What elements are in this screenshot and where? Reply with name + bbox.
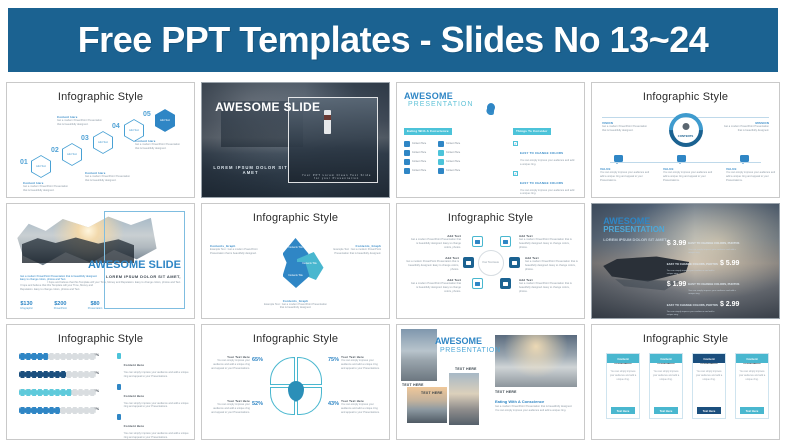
value-block-1: VALUE You can simply impress your audien… <box>600 167 650 182</box>
icon-box-4[interactable] <box>500 278 511 289</box>
slide-thumbnail-9[interactable]: Infographic Style Content Here80% Conten… <box>6 324 195 440</box>
vision-body: Get a modern PowerPoint Presentation tha… <box>602 125 648 133</box>
icon-list-item[interactable]: Content Here <box>404 141 434 147</box>
megaphone-icon <box>117 414 121 420</box>
train-icon <box>438 159 444 165</box>
callout-right: Contents_Graph Example Text : Get a mode… <box>331 244 381 256</box>
checklist-item[interactable]: ✓EASY TO CHANGE COLORSYou can simply imp… <box>513 141 575 167</box>
text-label-1: TEXT HERE <box>402 383 424 387</box>
callout-body: Example Text : Get a modern PowerPoint P… <box>264 303 328 311</box>
icon-box-2[interactable] <box>500 236 511 247</box>
slide-caption: Your PPT Lorem Clean Text Slide for your… <box>299 174 374 180</box>
callout-body: Get a modern PowerPoint Presentation tha… <box>135 143 181 151</box>
card-desc: You can simply impress your audience and… <box>609 370 637 381</box>
slide-thumbnail-5[interactable]: AWESOME SLIDE LOREM IPSUM DOLOR SIT AMET… <box>6 203 195 319</box>
text-label-4: TEXT HERE <box>495 390 517 394</box>
pricing-card-3[interactable]: Content Simple PowerPoint Presentation Y… <box>692 353 726 419</box>
card-header: Content <box>693 354 725 363</box>
item-label-2: Add Text Get a modern PowerPoint Present… <box>403 256 459 271</box>
silhouette-head <box>487 103 495 112</box>
mission-block: MISSION Get a modern PowerPoint Presenta… <box>723 121 769 133</box>
slide-title: Infographic Style <box>592 91 779 103</box>
puzzle-track <box>19 353 95 360</box>
slide-thumbnail-2[interactable]: AWESOME SLIDE LOREM IPSUM DOLOR SIT AMET… <box>201 82 390 198</box>
page-banner: Free PPT Templates - Slides No 13~24 <box>8 8 778 72</box>
feature-body: You can simply impress your audience and… <box>124 402 189 410</box>
segment-label-1: Contents Title <box>288 246 304 249</box>
hexagon-chain: 01 Add Text 02 Add Text 03 Add Text 04 A… <box>7 109 194 181</box>
image-icon <box>503 240 508 244</box>
slide-title: Infographic Style <box>7 91 194 103</box>
feature-item[interactable]: Content HereYou can simply impress your … <box>117 384 189 410</box>
bottom-connector-line <box>610 162 761 163</box>
item-body: Get a modern PowerPoint Presentation tha… <box>409 282 461 293</box>
label-body: You can simply impress your audience and… <box>341 403 381 414</box>
checklist-body: You can simply impress your audience and… <box>520 159 575 167</box>
puzzle-bar-3: Content Here90% <box>19 389 99 393</box>
icon-box-1[interactable] <box>472 236 483 247</box>
callout-body: Get a modern PowerPoint Presentation tha… <box>57 119 103 127</box>
card-header: Content <box>736 354 768 363</box>
callout-left: Contents_Graph Example Text : Get a mode… <box>210 244 260 256</box>
mail-icon <box>404 141 410 147</box>
card-desc: You can simply impress your audience and… <box>738 370 766 381</box>
checklist-item[interactable]: ✓EASY TO CHANGE COLORSYou can simply imp… <box>513 171 575 197</box>
item-body: Get a modern PowerPoint Presentation tha… <box>403 260 459 271</box>
speech-bubble-icon <box>740 155 749 162</box>
hex-callout-1: Content Here Get a modern PowerPoint Pre… <box>23 181 69 193</box>
speech-bubble-icon <box>677 155 686 162</box>
slide-thumbnail-1[interactable]: Infographic Style 01 Add Text 02 Add Tex… <box>6 82 195 198</box>
card-header: Content <box>650 354 682 363</box>
puzzle-icon <box>404 168 410 174</box>
feature-list: Content HereYou can simply impress your … <box>117 353 189 440</box>
hex-number: 03 <box>81 135 89 142</box>
slide-thumbnail-3[interactable]: AWESOME PRESENTATION Eating With A Consc… <box>396 82 585 198</box>
callout-bottom: Contents_Graph Example Text : Get a mode… <box>264 299 328 311</box>
price-label: Presentation <box>88 307 103 310</box>
footer-title: Eating With A Conscience <box>495 399 575 404</box>
value-block-3: VALUE You can simply impress your audien… <box>726 167 776 182</box>
callout-body: Example Text : Get a modern PowerPoint P… <box>331 248 381 256</box>
slide-title: Infographic Style <box>202 212 389 224</box>
price-amount: $ 2.99 <box>720 301 739 308</box>
card-desc: You can simply impress your audience and… <box>652 370 680 381</box>
slide-headline: AWESOME SLIDE <box>215 101 320 114</box>
document-icon <box>475 240 480 244</box>
pin-diagram <box>268 355 324 417</box>
book-icon <box>117 353 121 359</box>
slide-thumbnail-8[interactable]: AWESOME PRESENTATION LOREM IPSUM DOLOR S… <box>591 203 780 319</box>
trefoil-diagram: Contents Title Contents Title Contents T… <box>268 238 324 288</box>
price-row: $130Infographic $200PowerPoint $80Presen… <box>20 301 102 310</box>
label-body: You can simply impress your audience and… <box>210 359 250 370</box>
slide-title: Infographic Style <box>397 212 584 224</box>
center-circle: Your Text Here <box>478 250 504 276</box>
feature-title: Content Here <box>124 394 145 398</box>
slide-thumbnail-4[interactable]: Infographic Style CONTENTS VISION Get a … <box>591 82 780 198</box>
pin-label-2: Your Text Here You can simply impress yo… <box>341 355 381 370</box>
left-panel-header: Eating With A Conscience <box>404 128 452 135</box>
price-item[interactable]: $200PowerPoint <box>54 301 67 310</box>
footer-block: Eating With A Conscience Get a modern Po… <box>495 399 575 413</box>
item-body: Get a modern PowerPoint Presentation tha… <box>519 282 573 293</box>
price-title: EASY TO CHANGE COLORS, PHOTOS <box>688 241 739 245</box>
right-panel: Things To Consider ✓EASY TO CHANGE COLOR… <box>513 119 575 198</box>
puzzle-bar-2: Content Here70% <box>19 371 99 375</box>
hex-number: 01 <box>20 159 28 166</box>
heading-line-1: AWESOME <box>435 337 501 347</box>
feature-item[interactable]: Content HereYou can simply impress your … <box>117 353 189 379</box>
icon-list-item[interactable]: Content Here <box>438 159 468 165</box>
puzzle-bar-4: Content Here60% <box>19 407 99 411</box>
price-body: You can simply impress your audience and… <box>667 311 717 317</box>
gear-icon <box>475 282 480 286</box>
label-body: You can simply impress your audience and… <box>341 359 381 370</box>
feature-title: Content Here <box>124 363 145 367</box>
gear-icon <box>682 123 689 130</box>
checklist-body: You can simply impress your audience and… <box>520 189 575 197</box>
puzzle-bar-1: Content Here80% <box>19 353 99 357</box>
hexagon-label: Add Text <box>98 141 108 144</box>
icon-list-item[interactable]: Content Here <box>438 168 468 174</box>
slide-heading: AWESOME PRESENTATION <box>404 91 473 108</box>
feature-body: You can simply impress your audience and… <box>124 371 189 379</box>
heading-line-2: PRESENTATION <box>408 101 473 108</box>
price-title: EASY TO CHANGE COLORS, PHOTOS <box>667 303 718 307</box>
slide-headline: AWESOME SLIDE <box>47 259 181 271</box>
item-label-5: Add Text Get a modern PowerPoint Present… <box>525 256 579 271</box>
slide-title: Infographic Style <box>592 333 779 345</box>
card-desc: You can simply impress your audience and… <box>695 370 723 381</box>
hex-callout-4: Content Here Get a modern PowerPoint Pre… <box>135 139 181 151</box>
text-label-3: TEXT HERE <box>455 367 477 371</box>
pin-label-1: Your Text Here You can simply impress yo… <box>210 355 250 370</box>
callout-body: Get a modern PowerPoint Presentation tha… <box>85 175 131 183</box>
chart-icon <box>117 384 121 390</box>
check-icon: ✓ <box>513 171 518 176</box>
item-body: Get a modern PowerPoint Presentation tha… <box>409 238 461 249</box>
book-icon <box>438 150 444 156</box>
chat-icon <box>438 141 444 147</box>
slide-title: Infographic Style <box>7 333 194 345</box>
chart-icon <box>438 168 444 174</box>
hexagon-label: Add Text <box>36 165 46 168</box>
feature-item[interactable]: Content HereYou can simply impress your … <box>117 414 189 440</box>
vision-block: VISION Get a modern PowerPoint Presentat… <box>602 121 648 133</box>
pin-label-4: Your Text Here You can simply impress yo… <box>341 399 381 414</box>
icon-box-3[interactable] <box>509 257 520 268</box>
hex-number: 02 <box>51 147 59 154</box>
hex-callout-2: Content Here Get a modern PowerPoint Pre… <box>85 171 131 183</box>
card-button[interactable]: Text Here <box>611 407 635 414</box>
card-button[interactable]: Text Here <box>740 407 764 414</box>
slide-thumbnail-10[interactable]: Infographic Style 65% 75% 52% 43% Your T… <box>201 324 390 440</box>
hexagon-3[interactable]: Add Text <box>93 131 113 154</box>
price-label: PowerPoint <box>54 307 67 310</box>
pricing-card-4[interactable]: Content Simple PowerPoint Presentation Y… <box>735 353 769 419</box>
price-item[interactable]: $130Infographic <box>20 301 33 310</box>
icon-list: Content Here Content Here Content Here C… <box>404 141 468 174</box>
price-item[interactable]: $80Presentation <box>88 301 103 310</box>
center-label: Your Text Here <box>482 261 499 264</box>
puzzle-track <box>19 389 95 396</box>
price-label: Infographic <box>20 307 33 310</box>
feature-body: You can simply impress your audience and… <box>124 432 189 440</box>
hourglass-icon <box>404 150 410 156</box>
collage-photo-4 <box>495 335 577 387</box>
hexagon-label: Add Text <box>160 119 170 122</box>
hexagon-label: Add Text <box>67 153 77 156</box>
item-label-3: Add Text Get a modern PowerPoint Present… <box>409 278 461 293</box>
heading-line-2: PRESENTATION <box>603 226 667 235</box>
value-body: You can simply impress your audience and… <box>663 171 713 182</box>
collage-photo-1 <box>401 329 437 381</box>
price-row-4[interactable]: EASY TO CHANGE COLORS, PHOTOSYou can sim… <box>667 293 740 317</box>
item-body: Get a modern PowerPoint Presentation tha… <box>519 238 573 249</box>
collage-photo-3 <box>449 373 479 425</box>
pin-label-3: Your Text Here You can simply impress yo… <box>210 399 250 414</box>
item-label-1: Add Text Get a modern PowerPoint Present… <box>409 234 461 249</box>
hexagon-5[interactable]: Add Text <box>155 109 175 132</box>
price-title: EASY TO CHANGE COLORS, PHOTOS <box>688 282 739 286</box>
right-panel-header: Things To Consider <box>513 128 551 135</box>
mission-body: Get a modern PowerPoint Presentation tha… <box>723 125 769 133</box>
slide-heading: AWESOME PRESENTATION LOREM IPSUM DOLOR S… <box>603 217 667 243</box>
icon-box-6[interactable] <box>463 257 474 268</box>
slide-body-block: Get a modern PowerPoint Presentation tha… <box>20 275 102 292</box>
check-icon: ✓ <box>513 141 518 146</box>
callout-body: Get a modern PowerPoint Presentation tha… <box>23 185 69 193</box>
hex-number: 04 <box>112 123 120 130</box>
puzzle-track <box>19 371 95 378</box>
value-body: You can simply impress your audience and… <box>600 171 650 182</box>
icon-box-5[interactable] <box>472 278 483 289</box>
slide-subtitle: LOREM IPSUM DOLOR SIT AMET <box>213 165 288 175</box>
value-body: You can simply impress your audience and… <box>726 171 776 182</box>
cart-icon <box>404 159 410 165</box>
speech-bubble-icon <box>614 155 623 162</box>
segment-label-2: Contents Title <box>302 262 318 265</box>
checklist-title: EASY TO CHANGE COLORS <box>520 151 563 155</box>
heading-tagline: LOREM IPSUM DOLOR SIT AMET, <box>603 237 667 242</box>
hexagon-1[interactable]: Add Text <box>31 155 51 178</box>
checklist: ✓EASY TO CHANGE COLORSYou can simply imp… <box>513 141 575 198</box>
puzzle-track <box>19 407 95 414</box>
percent-1: 65% <box>252 357 263 363</box>
slide-heading: AWESOME PRESENTATION <box>435 337 501 354</box>
card-button[interactable]: Text Here <box>697 407 721 414</box>
slide-thumbnail-12[interactable]: Infographic Style Content Simple PowerPo… <box>591 324 780 440</box>
pin-petal-1[interactable] <box>270 357 295 385</box>
slide-thumbnail-7[interactable]: Infographic Style Your Text Here Add Tex… <box>396 203 585 319</box>
human-silhouette <box>478 105 504 183</box>
heading-line-2: PRESENTATION <box>440 347 501 354</box>
slide-thumbnail-11[interactable]: AWESOME PRESENTATION TEXT HERE TEXT HERE… <box>396 324 585 440</box>
icon-list-item[interactable]: Content Here <box>404 159 434 165</box>
checklist-title: EASY TO CHANGE COLORS <box>520 181 563 185</box>
hexagon-2[interactable]: Add Text <box>62 143 82 166</box>
pricing-card-1[interactable]: Content Simple PowerPoint Presentation Y… <box>606 353 640 419</box>
price-title: EASY TO CHANGE COLORS, PHOTOS <box>667 262 718 266</box>
callout-body: Example Text : Get a modern PowerPoint P… <box>210 248 260 256</box>
price-amount: $ 1.99 <box>667 281 686 288</box>
price-amount: $ 3.99 <box>667 240 686 247</box>
item-label-4: Add Text Get a modern PowerPoint Present… <box>519 234 573 249</box>
text-label-2: TEXT HERE <box>421 391 443 395</box>
item-body: Get a modern PowerPoint Presentation tha… <box>525 260 579 271</box>
feature-title: Content Here <box>124 424 145 428</box>
slide-note-2: I hope and believe that this Template wi… <box>20 284 102 292</box>
card-header: Content <box>607 354 639 363</box>
cycle-center-label: CONTENTS <box>678 134 693 138</box>
hexagon-label: Add Text <box>129 129 139 132</box>
percent-2: 75% <box>328 357 339 363</box>
footer-body: Get a modern PowerPoint Presentation tha… <box>495 405 575 413</box>
item-label-6: Add Text Get a modern PowerPoint Present… <box>519 278 573 293</box>
value-block-2: VALUE You can simply impress your audien… <box>663 167 713 182</box>
pin-petal-2[interactable] <box>297 357 322 385</box>
percent-4: 43% <box>328 401 339 407</box>
slide-grid: Infographic Style 01 Add Text 02 Add Tex… <box>6 82 780 440</box>
icon-list-item[interactable]: Content Here <box>438 150 468 156</box>
icon-list-item[interactable]: Content Here <box>404 168 434 174</box>
label-body: You can simply impress your audience and… <box>210 403 250 414</box>
icon-list-item[interactable]: Content Here <box>438 141 468 147</box>
hex-number: 05 <box>143 111 151 118</box>
hex-callout-3: Content Here Get a modern PowerPoint Pre… <box>57 115 103 127</box>
card-icon <box>512 261 517 265</box>
pricing-card-2[interactable]: Content Simple PowerPoint Presentation Y… <box>649 353 683 419</box>
slide-thumbnail-6[interactable]: Infographic Style Contents Title Content… <box>201 203 390 319</box>
icon-list-item[interactable]: Content Here <box>404 150 434 156</box>
left-panel: Eating With A Conscience Content Here Co… <box>404 119 468 174</box>
slide-title: Infographic Style <box>202 333 389 345</box>
slide-body: Get a modern PowerPoint Presentation tha… <box>20 275 102 283</box>
percent-3: 52% <box>252 401 263 407</box>
monitor-icon <box>503 282 508 286</box>
chat-icon <box>466 261 471 265</box>
page-title: Free PPT Templates - Slides No 13~24 <box>78 19 709 61</box>
price-amount: $ 5.99 <box>720 260 739 267</box>
segment-label-3: Contents Title <box>288 274 304 277</box>
card-button[interactable]: Text Here <box>654 407 678 414</box>
template-gallery-page: Free PPT Templates - Slides No 13~24 Inf… <box>0 0 786 445</box>
heading-line-1: AWESOME <box>404 91 473 101</box>
